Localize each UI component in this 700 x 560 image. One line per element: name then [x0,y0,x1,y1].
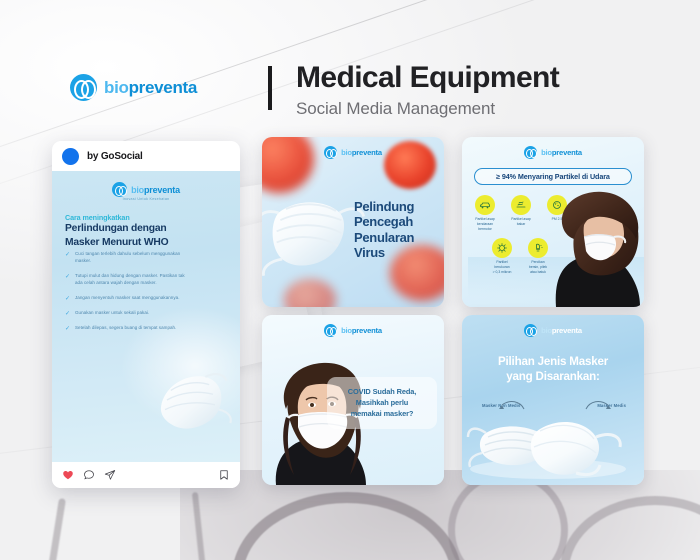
post-heading: Perlindungan dengan Masker Menurut WHO [65,222,215,249]
page-subtitle: Social Media Management [296,99,559,119]
check-icon: ✓ [65,274,71,280]
kn95-mask-illustration [262,185,366,285]
check-icon: ✓ [65,296,71,302]
brand-preventa-text: preventa [552,326,582,335]
check-icon: ✓ [65,252,71,258]
card-brand-wordmark: biopreventa [541,148,582,157]
card-brand-wordmark: biopreventa [341,326,382,335]
list-item: ✓ Gunakan masker untuk sekali pakai. [65,310,189,317]
list-item-label: Partikel berukuran > 0,3 mikron [487,260,517,275]
brand-preventa-text: preventa [129,78,197,97]
brand-bio-text: bio [541,326,552,335]
design-card-pelindung[interactable]: biopreventa Pelindung Pencegah Penularan… [262,137,444,307]
post-kicker: Cara meningkatkan [65,213,130,222]
smoke-icon [511,195,531,215]
title-block: Medical Equipment Social Media Managemen… [296,60,559,119]
page-title: Medical Equipment [296,60,559,95]
check-icon: ✓ [65,326,71,332]
post-brand-wordmark: biopreventa [131,185,180,195]
card-title: Pelindung Pencegah Penularan Virus [354,199,440,260]
brand-preventa-text: preventa [352,326,382,335]
biopreventa-logo-icon [324,146,337,159]
card-brand-logo: biopreventa [262,146,444,159]
comment-icon[interactable] [83,469,95,481]
biopreventa-logo-icon [524,146,537,159]
instagram-post-header: by GoSocial [52,141,240,171]
brand-bio-text: bio [341,148,352,157]
list-item: Partikel asap bakar [506,195,536,232]
card-brand-logo: biopreventa [462,324,644,337]
list-item-label: Partikel asap kendaraan bermotor [470,217,500,232]
list-item-label: Tutupi mulut dan hidung dengan masker. P… [75,273,189,287]
sneeze-icon [528,238,548,258]
post-brand-logo: biopreventa [52,182,240,197]
face-mask-illustration [142,352,238,448]
brand-preventa-text: preventa [552,148,582,157]
instagram-post-media: biopreventa Inovasi Untuk Kesehatan Cara… [52,171,240,462]
brand-logo: biopreventa [70,74,197,101]
list-item: Partikel berukuran > 0,3 mikron [487,238,517,275]
biopreventa-logo-icon [324,324,337,337]
card-title: Pilihan Jenis Masker yang Disarankan: [472,355,634,385]
list-item-label: Gunakan masker untuk sekali pakai. [75,310,149,317]
person-wearing-mask-photo [548,179,644,307]
card-brand-logo: biopreventa [462,146,644,159]
microbe-icon [492,238,512,258]
post-brand-tagline: Inovasi Untuk Kesehatan [52,197,240,201]
card-brand-wordmark: biopreventa [341,148,382,157]
instagram-action-bar [52,462,240,488]
car-exhaust-icon [475,195,495,215]
list-item: Partikel asap kendaraan bermotor [470,195,500,232]
list-item-label: Setelah dilepas, segera buang di tempat … [75,325,176,332]
instagram-post-mockup: by GoSocial biopreventa Inovasi Untuk Ke… [52,141,240,488]
biopreventa-logo-icon [112,182,127,197]
like-icon[interactable] [62,469,74,481]
list-item: ✓ Jangan menyentuh masker saat menggunak… [65,295,189,302]
avatar[interactable] [62,148,79,165]
design-card-jenis-masker[interactable]: biopreventa Pilihan Jenis Masker yang Di… [462,315,644,485]
card-content: biopreventa Pelindung Pencegah Penularan… [262,137,444,307]
brand-bio-text: bio [541,148,552,157]
list-item-label: Cuci tangan terlebih dahulu sebelum meng… [75,251,189,265]
check-icon: ✓ [65,311,71,317]
post-bullet-list: ✓ Cuci tangan terlebih dahulu sebelum me… [65,251,189,340]
list-item: ✓ Setelah dilepas, segera buang di tempa… [65,325,189,332]
list-item-label: Partikel asap bakar [506,217,536,227]
list-item: ✓ Cuci tangan terlebih dahulu sebelum me… [65,251,189,265]
list-item-label: Jangan menyentuh masker saat menggunakan… [75,295,180,302]
brand-bio-text: bio [104,78,129,97]
card-brand-wordmark: biopreventa [541,326,582,335]
design-card-covid-question[interactable]: biopreventa [262,315,444,485]
biopreventa-logo-icon [524,324,537,337]
mask-types-illustration [462,395,644,481]
brand-preventa-text: preventa [144,185,180,195]
card-content: biopreventa ≥ 94% Menyaring Partikel di … [462,137,644,307]
page-header: biopreventa Medical Equipment Social Med… [0,28,700,114]
instagram-username[interactable]: by GoSocial [87,151,143,162]
bookmark-icon[interactable] [218,469,230,481]
speech-bubble-question: COVID Sudah Reda, Masihkah perlu memakai… [327,377,437,429]
biopreventa-logo-icon [70,74,97,101]
brand-wordmark: biopreventa [104,78,197,98]
design-card-filtrasi[interactable]: biopreventa ≥ 94% Menyaring Partikel di … [462,137,644,307]
brand-bio-text: bio [341,326,352,335]
brand-bio-text: bio [131,185,144,195]
card-content: biopreventa [262,315,444,485]
share-icon[interactable] [104,469,116,481]
card-brand-logo: biopreventa [262,324,444,337]
title-divider [268,66,272,110]
card-content: biopreventa Pilihan Jenis Masker yang Di… [462,315,644,485]
list-item: ✓ Tutupi mulut dan hidung dengan masker.… [65,273,189,287]
brand-preventa-text: preventa [352,148,382,157]
